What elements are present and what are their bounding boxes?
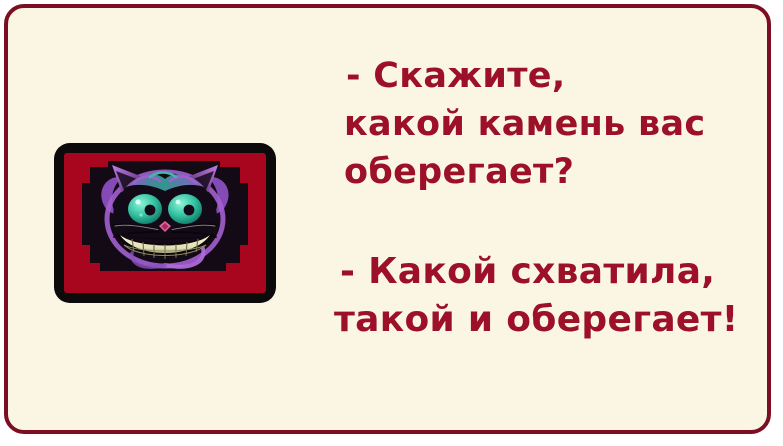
speech-block-answer: - Какой схватила, такой и оберегает! — [334, 248, 734, 344]
text-column: - Скажите, какой камень вас оберегает? -… — [334, 52, 734, 344]
speech-line: какой камень вас — [334, 100, 734, 148]
joke-card: - Скажите, какой камень вас оберегает? -… — [4, 4, 771, 434]
cheshire-cat-icon — [64, 153, 266, 293]
speech-block-question: - Скажите, какой камень вас оберегает? — [334, 52, 734, 196]
speech-line: - Скажите, — [334, 52, 734, 100]
speech-line: - Какой схватила, — [334, 248, 734, 296]
speech-line: такой и оберегает! — [334, 296, 734, 344]
picture-frame — [54, 143, 276, 303]
picture-panel — [54, 143, 276, 303]
picture-inner — [64, 153, 266, 293]
speech-line: оберегает? — [334, 148, 734, 196]
